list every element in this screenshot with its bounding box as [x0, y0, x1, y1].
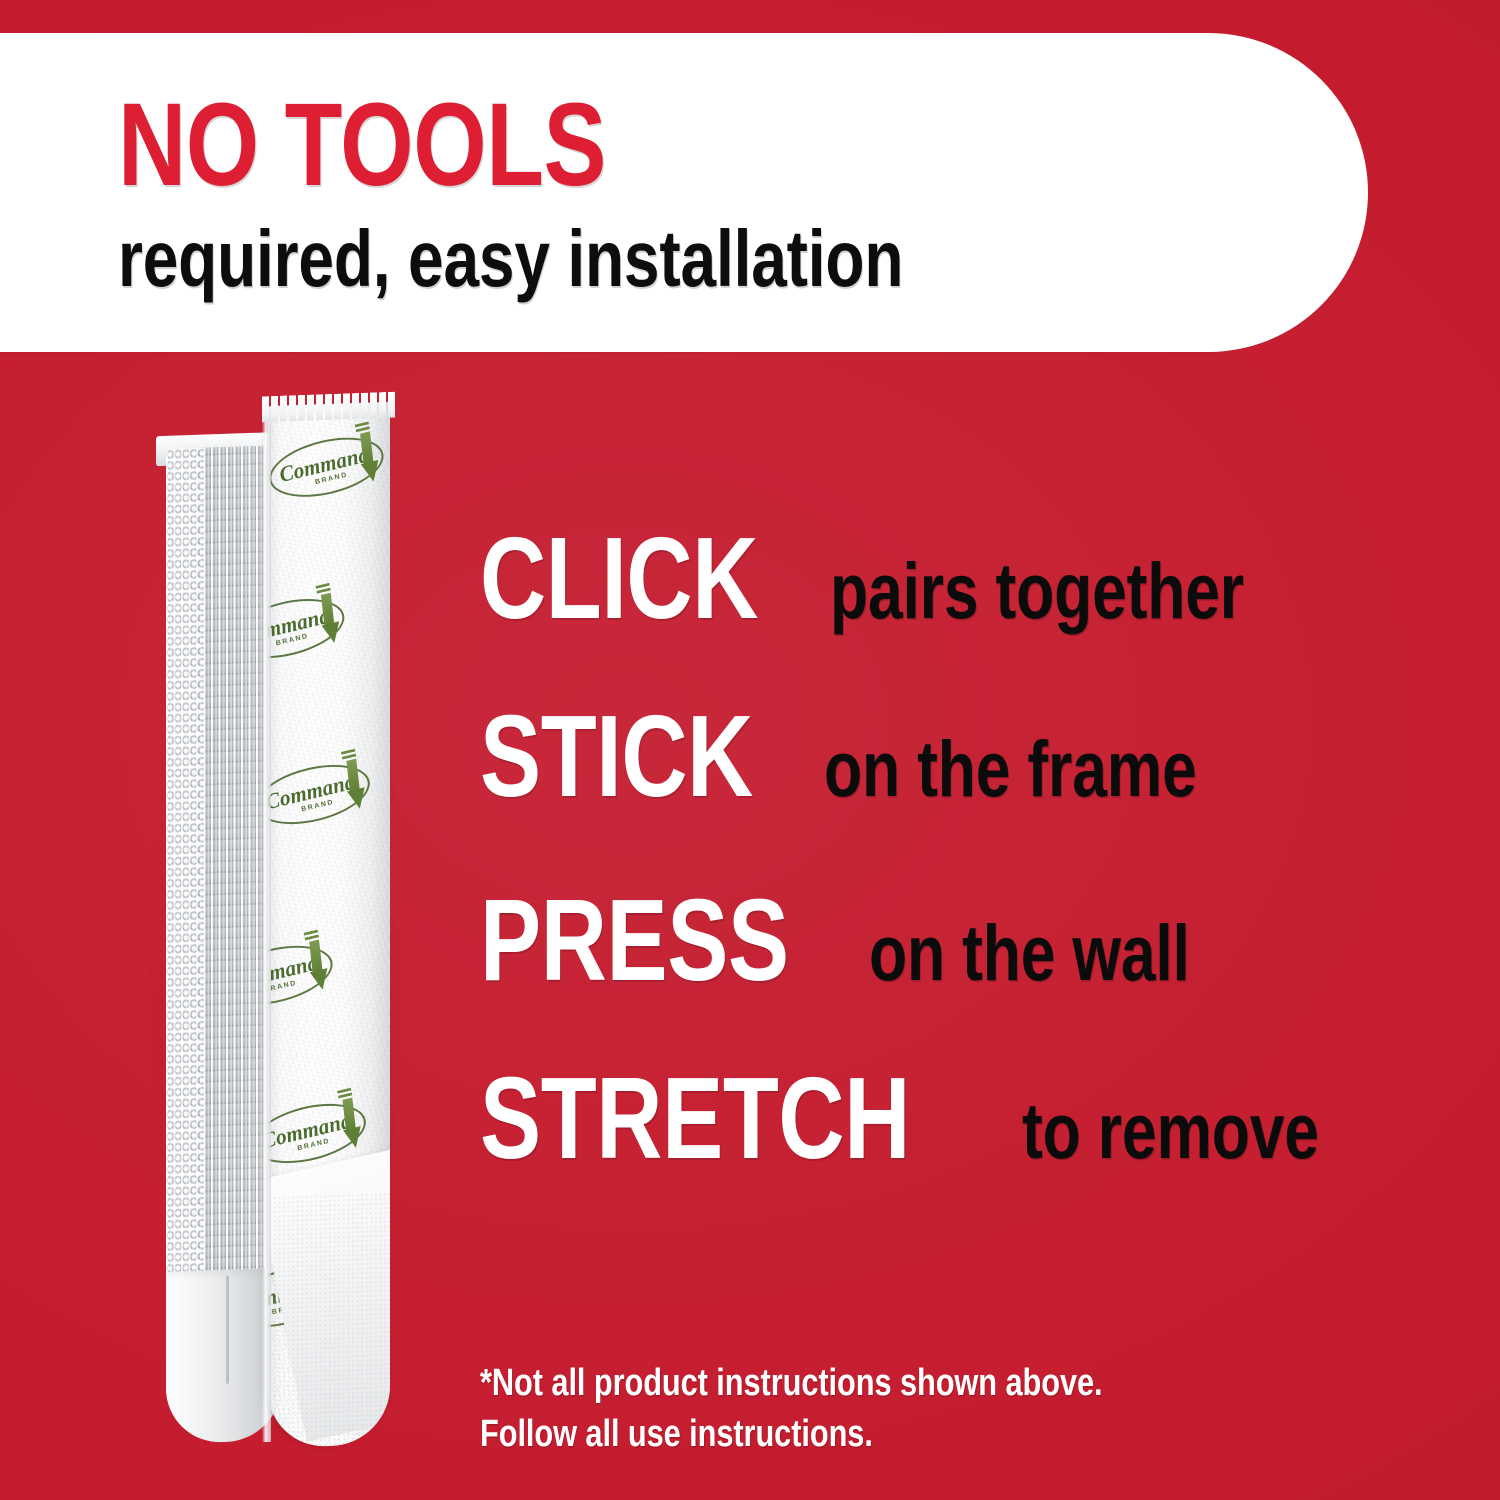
- footnote-line-1: *Not all product instructions shown abov…: [480, 1358, 1209, 1409]
- strip-front-serrated-edge: [262, 392, 396, 423]
- step-description: on the frame: [824, 729, 1197, 808]
- instruction-step: STICKon the frame: [480, 698, 1440, 814]
- step-description: pairs together: [830, 551, 1244, 630]
- footnote-line-2: Follow all use instructions.: [480, 1409, 1209, 1460]
- command-logo: Command BRAND: [268, 925, 350, 1019]
- step-keyword: CLICK: [480, 520, 758, 636]
- page-title: NO TOOLS: [118, 91, 1038, 201]
- strip-front-liner: Command BRAND Command BRAND: [268, 402, 390, 1448]
- header-text-group: NO TOOLS required, easy installation: [118, 91, 1268, 299]
- instruction-step: CLICKpairs together: [480, 520, 1440, 636]
- step-keyword: STRETCH: [480, 1060, 910, 1176]
- instruction-step: PRESSon the wall: [480, 882, 1440, 998]
- instruction-step: STRETCHto remove: [480, 1060, 1440, 1176]
- step-keyword: STICK: [480, 698, 753, 814]
- step-description: to remove: [1022, 1091, 1319, 1170]
- fastener-tips-texture: [166, 448, 204, 1294]
- marketing-infographic: NO TOOLS required, easy installation Com…: [0, 0, 1500, 1500]
- liner-peel-grain: [268, 1192, 390, 1448]
- instruction-steps-list: CLICKpairs together STICKon the frame PR…: [480, 520, 1440, 1176]
- header-banner: NO TOOLS required, easy installation: [0, 33, 1368, 352]
- footnote-disclaimer: *Not all product instructions shown abov…: [480, 1358, 1380, 1460]
- step-keyword: PRESS: [480, 882, 789, 998]
- step-description: on the wall: [869, 913, 1190, 992]
- strip-seam-highlight: [262, 422, 271, 1442]
- page-subtitle: required, easy installation: [118, 219, 1038, 299]
- product-image-command-strips: Command BRAND Command BRAND: [150, 392, 400, 1477]
